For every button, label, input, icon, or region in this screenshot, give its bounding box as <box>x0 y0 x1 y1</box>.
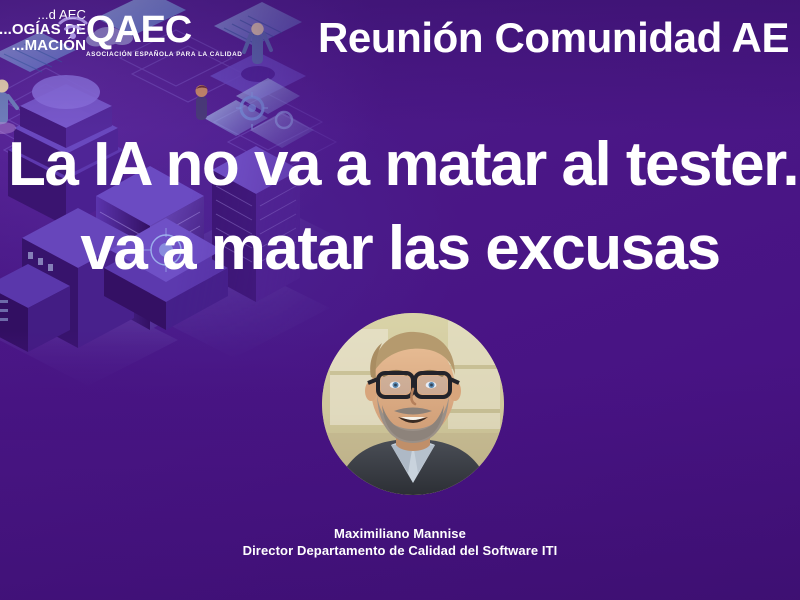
speaker-role: Director Departamento de Calidad del Sof… <box>0 543 800 558</box>
headline-line-2: va a matar las excusas <box>0 218 800 280</box>
wifi-icon <box>56 12 90 42</box>
qaec-logo-mark: QAEC <box>86 12 242 48</box>
presentation-slide: ...d AEC ...OGÍAS DE ...MACIÓN QAEC ASOC… <box>0 0 800 600</box>
qaec-logo: QAEC ASOCIACIÓN ESPAÑOLA PARA LA CALIDAD <box>86 12 242 58</box>
speaker-name: Maximiliano Mannise <box>0 526 800 541</box>
qaec-logo-tagline: ASOCIACIÓN ESPAÑOLA PARA LA CALIDAD <box>86 51 242 58</box>
speaker-avatar <box>322 313 504 495</box>
headline-line-1: La IA no va a matar al tester... <box>0 134 800 196</box>
headline: La IA no va a matar al tester... va a ma… <box>0 134 800 280</box>
background-vignette <box>0 0 800 600</box>
header-title: Reunión Comunidad AE <box>318 14 789 62</box>
